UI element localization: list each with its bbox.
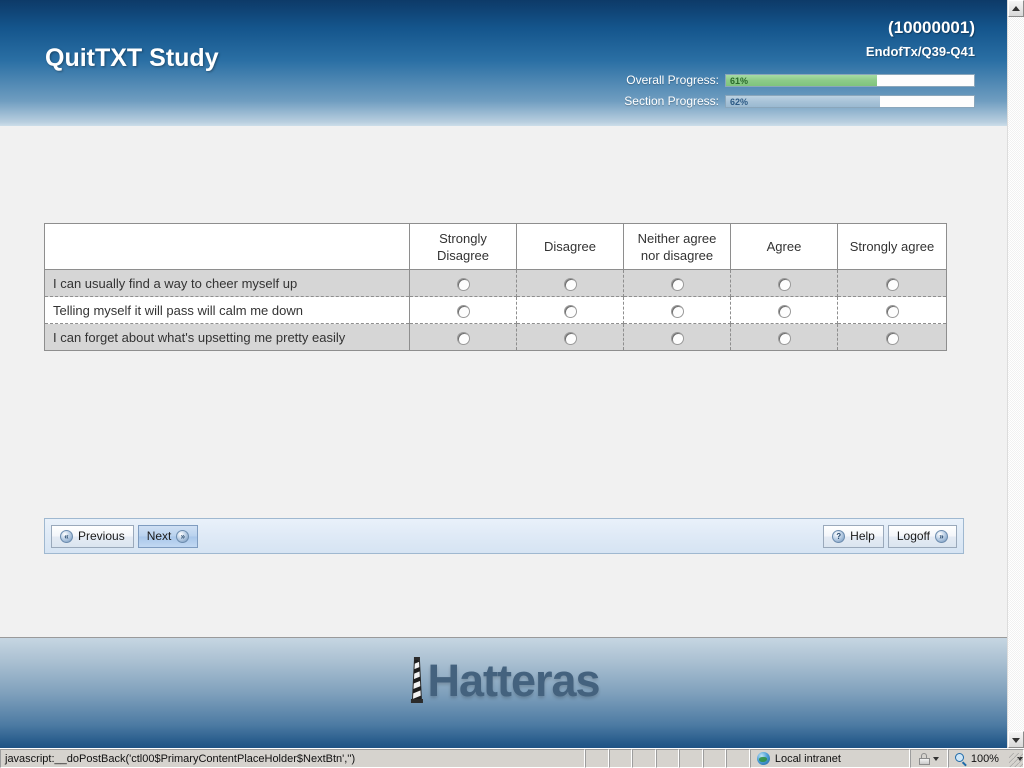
security-zone-label: Local intranet <box>775 753 841 765</box>
logoff-button[interactable]: Logoff » <box>888 525 957 548</box>
zoom-level-label: 100% <box>971 753 999 765</box>
logo-text: Hatteras <box>427 656 599 706</box>
column-header-neither: Neither agree nor disagree <box>624 224 731 270</box>
section-progress-row: Section Progress: 62% <box>624 94 975 108</box>
radio-strongly-disagree[interactable] <box>457 278 470 291</box>
status-text: javascript:__doPostBack('ctl00$PrimaryCo… <box>0 749 585 768</box>
lighthouse-svg <box>407 656 425 706</box>
radio-agree[interactable] <box>778 278 791 291</box>
radio-cell[interactable] <box>517 297 624 324</box>
overall-progress-value: 61% <box>730 75 748 87</box>
status-panel-3 <box>632 749 656 768</box>
help-button[interactable]: ? Help <box>823 525 884 548</box>
item-label: I can forget about what's upsetting me p… <box>45 324 410 351</box>
nav-group-right: ? Help Logoff » <box>823 525 957 548</box>
chevron-down-icon[interactable] <box>933 757 939 761</box>
double-chevron-left-icon: « <box>60 530 73 543</box>
overall-progress-fill <box>726 75 877 86</box>
column-header-strongly-agree: Strongly agree <box>838 224 947 270</box>
resize-grip[interactable] <box>1009 753 1023 767</box>
radio-disagree[interactable] <box>564 278 577 291</box>
section-progress-track: 62% <box>725 95 975 108</box>
radio-agree[interactable] <box>778 305 791 318</box>
radio-cell[interactable] <box>410 297 517 324</box>
radio-disagree[interactable] <box>564 332 577 345</box>
radio-disagree[interactable] <box>564 305 577 318</box>
status-panel-2 <box>609 749 633 768</box>
column-header-disagree: Disagree <box>517 224 624 270</box>
section-code: EndofTx/Q39-Q41 <box>866 44 975 59</box>
radio-neither[interactable] <box>671 278 684 291</box>
column-header-strongly-disagree: Strongly Disagree <box>410 224 517 270</box>
radio-strongly-agree[interactable] <box>886 332 899 345</box>
scroll-down-glyph <box>1012 738 1020 743</box>
vertical-scrollbar[interactable] <box>1007 0 1024 748</box>
radio-cell[interactable] <box>731 324 838 351</box>
scroll-up-glyph <box>1012 6 1020 11</box>
section-progress-fill <box>726 96 880 107</box>
logoff-button-label: Logoff <box>897 529 930 543</box>
subject-id: (10000001) <box>888 18 975 38</box>
radio-cell[interactable] <box>838 324 947 351</box>
item-label: I can usually find a way to cheer myself… <box>45 270 410 297</box>
radio-strongly-agree[interactable] <box>886 278 899 291</box>
protected-mode-panel[interactable] <box>910 749 948 768</box>
help-button-label: Help <box>850 529 875 543</box>
column-header-agree: Agree <box>731 224 838 270</box>
radio-cell[interactable] <box>838 270 947 297</box>
radio-cell[interactable] <box>731 270 838 297</box>
section-progress-label: Section Progress: <box>624 94 719 108</box>
radio-cell[interactable] <box>410 324 517 351</box>
radio-neither[interactable] <box>671 305 684 318</box>
main-content: When I am upset, I believe that... Stron… <box>0 126 1007 637</box>
status-bar: javascript:__doPostBack('ctl00$PrimaryCo… <box>0 748 1024 768</box>
overall-progress-row: Overall Progress: 61% <box>626 73 975 87</box>
next-button[interactable]: Next » <box>138 525 199 548</box>
footer-logo: Hatteras <box>407 656 599 706</box>
radio-cell[interactable] <box>838 297 947 324</box>
next-button-label: Next <box>147 529 172 543</box>
status-panel-1 <box>585 749 609 768</box>
item-label: Telling myself it will pass will calm me… <box>45 297 410 324</box>
overall-progress-label: Overall Progress: <box>626 73 719 87</box>
radio-strongly-disagree[interactable] <box>457 305 470 318</box>
status-panel-5 <box>679 749 703 768</box>
magnifier-icon <box>955 753 967 765</box>
radio-cell[interactable] <box>731 297 838 324</box>
globe-icon <box>757 752 770 765</box>
table-header-row: Strongly Disagree Disagree Neither agree… <box>45 224 947 270</box>
previous-button-label: Previous <box>78 529 125 543</box>
radio-cell[interactable] <box>517 270 624 297</box>
status-panel-6 <box>703 749 727 768</box>
section-progress-value: 62% <box>730 96 748 108</box>
radio-strongly-disagree[interactable] <box>457 332 470 345</box>
radio-cell[interactable] <box>624 297 731 324</box>
question-mark-icon: ? <box>832 530 845 543</box>
page-footer: Hatteras <box>0 637 1007 748</box>
page-content: QuitTXT Study (10000001) EndofTx/Q39-Q41… <box>0 0 1007 748</box>
status-panel-4 <box>656 749 680 768</box>
double-chevron-right-icon: » <box>176 530 189 543</box>
column-header-blank <box>45 224 410 270</box>
radio-neither[interactable] <box>671 332 684 345</box>
lighthouse-icon <box>407 656 425 706</box>
radio-cell[interactable] <box>410 270 517 297</box>
status-panel-7 <box>726 749 750 768</box>
double-chevron-right-icon: » <box>935 530 948 543</box>
table-row: I can forget about what's upsetting me p… <box>45 324 947 351</box>
table-body: I can usually find a way to cheer myself… <box>45 270 947 351</box>
table-head: Strongly Disagree Disagree Neither agree… <box>45 224 947 270</box>
security-zone-panel[interactable]: Local intranet <box>750 749 910 768</box>
table-row: Telling myself it will pass will calm me… <box>45 297 947 324</box>
overall-progress-track: 61% <box>725 74 975 87</box>
radio-cell[interactable] <box>624 324 731 351</box>
navigation-bar: « Previous Next » ? Help Logoff <box>44 518 964 554</box>
scroll-up-arrow-icon[interactable] <box>1008 0 1024 17</box>
table-row: I can usually find a way to cheer myself… <box>45 270 947 297</box>
radio-cell[interactable] <box>517 324 624 351</box>
likert-table: Strongly Disagree Disagree Neither agree… <box>44 223 947 351</box>
lock-icon <box>919 753 930 765</box>
radio-agree[interactable] <box>778 332 791 345</box>
page-header: QuitTXT Study (10000001) EndofTx/Q39-Q41… <box>0 0 1007 126</box>
question-matrix: Strongly Disagree Disagree Neither agree… <box>44 223 946 351</box>
radio-strongly-agree[interactable] <box>886 305 899 318</box>
nav-group-left: « Previous Next » <box>51 525 198 548</box>
browser-viewport: QuitTXT Study (10000001) EndofTx/Q39-Q41… <box>0 0 1024 768</box>
radio-cell[interactable] <box>624 270 731 297</box>
study-title: QuitTXT Study <box>45 44 219 73</box>
scroll-down-arrow-icon[interactable] <box>1008 731 1024 748</box>
previous-button[interactable]: « Previous <box>51 525 134 548</box>
